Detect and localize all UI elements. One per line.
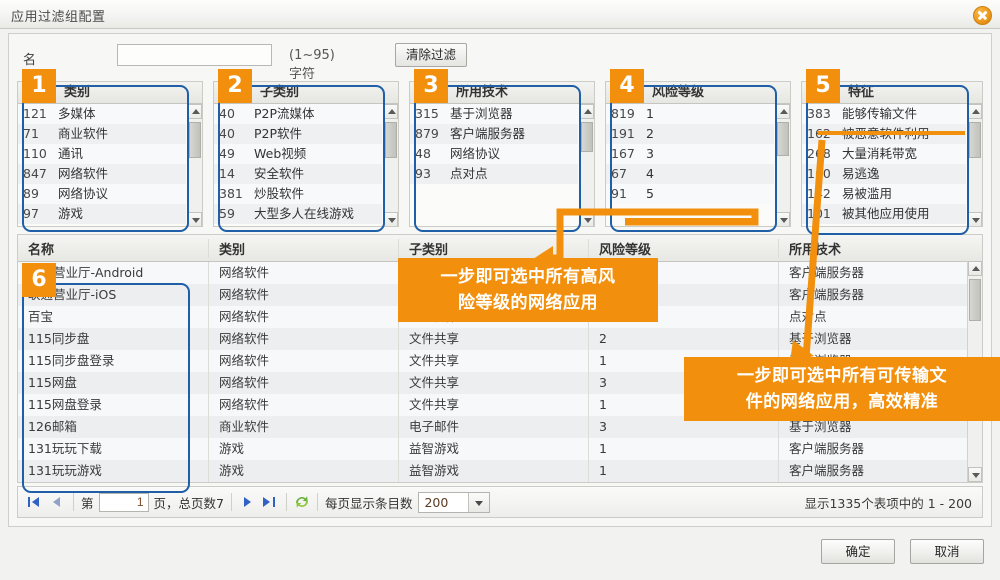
filter-row[interactable]: 97游戏 xyxy=(18,204,186,224)
selection-underline-risk xyxy=(625,218,755,222)
filter-panel-scrollbar[interactable] xyxy=(579,104,594,227)
table-row[interactable]: 115同步盘网络软件文件共享2基于浏览器 xyxy=(18,328,982,350)
filter-row-count: 91 xyxy=(606,184,646,204)
scroll-down-icon[interactable] xyxy=(968,212,982,227)
filter-panel-body: 315基于浏览器 879客户端服务器 48网络协议 93点对点 xyxy=(410,104,594,227)
column-header-name[interactable]: 名称 xyxy=(18,239,208,258)
next-page-icon[interactable] xyxy=(237,491,259,513)
filter-row-count: 67 xyxy=(606,164,646,184)
name-hint: (1~95)字符 xyxy=(289,48,335,82)
filter-row-label: 基于浏览器 xyxy=(450,104,513,124)
cell-subcategory: 文件共享 xyxy=(398,328,588,350)
filter-row[interactable]: 93点对点 xyxy=(410,164,578,184)
cell-name: 115同步盘 xyxy=(18,328,208,350)
filter-row-label: 大量消耗带宽 xyxy=(842,144,917,164)
cell-risk: 1 xyxy=(588,438,778,460)
filter-row-count: 268 xyxy=(802,144,842,164)
per-page-label: 每页显示条目数 xyxy=(325,493,413,512)
scroll-down-icon[interactable] xyxy=(384,212,398,227)
cell-subcategory: 文件共享 xyxy=(398,394,588,416)
filter-row-count: 89 xyxy=(18,184,58,204)
cell-name: 126邮箱 xyxy=(18,416,208,438)
selection-underline-characteristics xyxy=(818,131,965,135)
scroll-up-icon[interactable] xyxy=(968,104,982,119)
cancel-button[interactable]: 取消 xyxy=(910,539,984,564)
filter-row-count: 93 xyxy=(410,164,450,184)
cell-subcategory: 文件共享 xyxy=(398,350,588,372)
filter-row-count: 381 xyxy=(214,184,254,204)
filter-row-label: 易被滥用 xyxy=(842,184,892,204)
cell-technology: 客户端服务器 xyxy=(778,284,967,306)
filter-row-count: 315 xyxy=(410,104,450,124)
filter-row-label: 2 xyxy=(646,124,654,144)
first-page-icon[interactable] xyxy=(24,491,46,513)
filter-row-list: 8191 1912 1673 674 915 xyxy=(606,104,774,204)
cell-category: 商业软件 xyxy=(208,416,398,438)
filter-row-count: 191 xyxy=(606,124,646,144)
per-page-select[interactable]: 200 xyxy=(418,492,490,513)
cell-category: 网络软件 xyxy=(208,394,398,416)
filter-row[interactable]: 40P2P流媒体 xyxy=(214,104,382,124)
callout-risk: 一步即可选中所有高风 险等级的网络应用 xyxy=(398,258,658,322)
filter-row[interactable]: 847网络软件 xyxy=(18,164,186,184)
name-input[interactable] xyxy=(117,44,272,66)
cell-technology: 客户端服务器 xyxy=(778,460,967,482)
filter-row-label: 商业软件 xyxy=(58,124,108,144)
filter-panel-scrollbar[interactable] xyxy=(967,104,982,227)
cell-risk: 2 xyxy=(588,328,778,350)
badge-6: 6 xyxy=(22,263,56,297)
callout-line: 件的网络应用，高效精准 xyxy=(694,389,990,415)
filter-row[interactable]: 110通讯 xyxy=(18,144,186,164)
cell-name: 115网盘登录 xyxy=(18,394,208,416)
filter-row-count: 160 xyxy=(802,164,842,184)
cell-category: 网络软件 xyxy=(208,306,398,328)
column-header-subcategory[interactable]: 子类别 xyxy=(398,239,588,258)
cell-subcategory: 益智游戏 xyxy=(398,460,588,482)
filter-row-label: 炒股软件 xyxy=(254,184,304,204)
filter-row-label: 大型多人在线游戏 xyxy=(254,204,354,224)
filter-row-list: 315基于浏览器 879客户端服务器 48网络协议 93点对点 xyxy=(410,104,578,184)
filter-row-label: 客户端服务器 xyxy=(450,124,525,144)
scroll-up-icon[interactable] xyxy=(188,104,202,119)
filter-row[interactable]: 59大型多人在线游戏 xyxy=(214,204,382,224)
cell-technology: 基于浏览器 xyxy=(778,328,967,350)
filter-row-label: 易逃逸 xyxy=(842,164,880,184)
cell-name: 115同步盘登录 xyxy=(18,350,208,372)
filter-row-count: 71 xyxy=(18,124,58,144)
last-page-icon[interactable] xyxy=(259,491,281,513)
filter-row-list: 121多媒体 71商业软件 110通讯 847网络软件 89网络协议 97游戏 xyxy=(18,104,186,224)
table-row[interactable]: 131玩玩下载游戏益智游戏1客户端服务器 xyxy=(18,438,982,460)
filter-row-count: 49 xyxy=(214,144,254,164)
filter-row-count: 167 xyxy=(606,144,646,164)
filter-row-count: 48 xyxy=(410,144,450,164)
filter-row[interactable]: 1912 xyxy=(606,124,774,144)
scroll-down-icon[interactable] xyxy=(580,212,594,227)
cell-subcategory: 益智游戏 xyxy=(398,438,588,460)
filter-row-count: 97 xyxy=(18,204,58,224)
filter-row-label: 3 xyxy=(646,144,654,164)
window-title: 应用过滤组配置 xyxy=(11,6,106,25)
filter-row-count: 819 xyxy=(606,104,646,124)
filter-row-count: 879 xyxy=(410,124,450,144)
filter-row[interactable]: 268大量消耗带宽 xyxy=(802,144,966,164)
cell-category: 游戏 xyxy=(208,438,398,460)
filter-row-label: 网络软件 xyxy=(58,164,108,184)
scrollbar-thumb[interactable] xyxy=(581,122,593,152)
filter-row-count: 14 xyxy=(214,164,254,184)
filter-row[interactable]: 674 xyxy=(606,164,774,184)
page-suffix-label: 页，总页数7 xyxy=(154,493,224,512)
filter-panel-scrollbar[interactable] xyxy=(383,104,398,227)
filter-row-label: 5 xyxy=(646,184,654,204)
scrollbar-thumb[interactable] xyxy=(969,279,981,321)
cell-category: 网络软件 xyxy=(208,262,398,284)
cell-technology: 点对点 xyxy=(778,306,967,328)
filter-row[interactable]: 49Web视频 xyxy=(214,144,382,164)
filter-row-selected[interactable]: 915 xyxy=(606,184,774,204)
callout-line: 一步即可选中所有高风 xyxy=(408,264,648,290)
cell-name: 131玩玩游戏 xyxy=(18,460,208,482)
badge-5: 5 xyxy=(806,69,840,103)
filter-row[interactable]: 160易逃逸 xyxy=(802,164,966,184)
filter-panel-body: 383能够传输文件 162被恶意软件利用 268大量消耗带宽 160易逃逸 14… xyxy=(802,104,982,227)
cell-category: 网络软件 xyxy=(208,284,398,306)
per-page-value: 200 xyxy=(419,493,468,512)
filter-row-label: 能够传输文件 xyxy=(842,104,917,124)
filter-panel-body: 40P2P流媒体 40P2P软件 49Web视频 14安全软件 381炒股软件 … xyxy=(214,104,398,227)
filter-row-list: 383能够传输文件 162被恶意软件利用 268大量消耗带宽 160易逃逸 14… xyxy=(802,104,966,224)
filter-panel-scrollbar[interactable] xyxy=(187,104,202,227)
callout-line: 一步即可选中所有可传输文 xyxy=(694,363,990,389)
filter-row-count: 121 xyxy=(18,104,58,124)
filter-row-label: 通讯 xyxy=(58,144,83,164)
scrollbar-thumb[interactable] xyxy=(777,122,789,156)
filter-row[interactable]: 142易被滥用 xyxy=(802,184,966,204)
filter-row[interactable]: 89网络协议 xyxy=(18,184,186,204)
scrollbar-thumb[interactable] xyxy=(969,122,981,158)
filter-row-label: P2P流媒体 xyxy=(254,104,315,124)
page-number-input[interactable] xyxy=(99,493,149,512)
filter-row-label: 安全软件 xyxy=(254,164,304,184)
filter-row-label: 点对点 xyxy=(450,164,488,184)
filter-row-label: 网络协议 xyxy=(58,184,108,204)
filter-row-label: 被其他应用使用 xyxy=(842,204,930,224)
cell-subcategory: 电子邮件 xyxy=(398,416,588,438)
filter-row-count: 383 xyxy=(802,104,842,124)
filter-row[interactable]: 1673 xyxy=(606,144,774,164)
filter-row-count: 40 xyxy=(214,124,254,144)
filter-row[interactable]: 14安全软件 xyxy=(214,164,382,184)
cell-category: 网络软件 xyxy=(208,372,398,394)
badge-3: 3 xyxy=(414,69,448,103)
cell-name: 131玩玩下载 xyxy=(18,438,208,460)
filter-row[interactable]: 315基于浏览器 xyxy=(410,104,578,124)
refresh-icon[interactable] xyxy=(292,492,312,512)
scroll-down-icon[interactable] xyxy=(968,467,982,482)
scroll-up-icon[interactable] xyxy=(384,104,398,119)
filter-panel-body: 121多媒体 71商业软件 110通讯 847网络软件 89网络协议 97游戏 xyxy=(18,104,202,227)
filter-row-selected[interactable]: 383能够传输文件 xyxy=(802,104,966,124)
callout-line: 险等级的网络应用 xyxy=(408,290,648,316)
scroll-up-icon[interactable] xyxy=(580,104,594,119)
previous-page-icon[interactable] xyxy=(46,491,68,513)
badge-2: 2 xyxy=(218,69,252,103)
chevron-down-icon[interactable] xyxy=(468,493,489,512)
page-prefix-label: 第 xyxy=(81,493,94,512)
pagination-bar: 第 页，总页数7 每页显示条目数 200 显示1335个表项中的 1 - 200 xyxy=(17,486,983,518)
filter-row-label: Web视频 xyxy=(254,144,306,164)
filter-row-count: 101 xyxy=(802,204,842,224)
cell-category: 游戏 xyxy=(208,460,398,482)
filter-row[interactable]: 101被其他应用使用 xyxy=(802,204,966,224)
column-header-technology[interactable]: 所用技术 xyxy=(778,239,967,258)
scroll-down-icon[interactable] xyxy=(776,212,790,227)
filter-row[interactable]: 48网络协议 xyxy=(410,144,578,164)
cell-risk: 1 xyxy=(588,460,778,482)
callout-file-transfer: 一步即可选中所有可传输文 件的网络应用，高效精准 xyxy=(684,357,1000,421)
scroll-down-icon[interactable] xyxy=(188,212,202,227)
filter-row[interactable]: 381炒股软件 xyxy=(214,184,382,204)
filter-row[interactable]: 879客户端服务器 xyxy=(410,124,578,144)
clear-filter-button[interactable]: 清除过滤 xyxy=(395,43,467,67)
filter-row-count: 142 xyxy=(802,184,842,204)
filter-row-count: 110 xyxy=(18,144,58,164)
cell-category: 网络软件 xyxy=(208,350,398,372)
filter-row-label: 网络协议 xyxy=(450,144,500,164)
scroll-up-icon[interactable] xyxy=(968,261,982,276)
application-filter-group-dialog: 应用过滤组配置 名称: (1~95)字符 清除过滤 类别 121多媒体 71商业… xyxy=(0,0,1000,580)
badge-1: 1 xyxy=(22,69,56,103)
filter-row[interactable]: 121多媒体 xyxy=(18,104,186,124)
cell-subcategory: 文件共享 xyxy=(398,372,588,394)
scrollbar-thumb[interactable] xyxy=(189,122,201,158)
dialog-footer: 确定 取消 xyxy=(0,531,1000,580)
cell-name: 百宝 xyxy=(18,306,208,328)
scrollbar-thumb[interactable] xyxy=(385,122,397,158)
filter-panel-scrollbar[interactable] xyxy=(775,104,790,227)
close-icon[interactable] xyxy=(973,6,992,25)
cell-technology: 客户端服务器 xyxy=(778,262,967,284)
filter-row-label: 游戏 xyxy=(58,204,83,224)
filter-row[interactable]: 40P2P软件 xyxy=(214,124,382,144)
filter-row[interactable]: 8191 xyxy=(606,104,774,124)
ok-button[interactable]: 确定 xyxy=(821,539,895,564)
cell-technology: 客户端服务器 xyxy=(778,438,967,460)
table-row[interactable]: 131玩玩游戏游戏益智游戏1客户端服务器 xyxy=(18,460,982,482)
filter-row-label: 1 xyxy=(646,104,654,124)
filter-panel-body: 8191 1912 1673 674 915 xyxy=(606,104,790,227)
filter-row-count: 59 xyxy=(214,204,254,224)
filter-row-label: P2P软件 xyxy=(254,124,302,144)
record-summary: 显示1335个表项中的 1 - 200 xyxy=(804,493,972,512)
filter-row[interactable]: 71商业软件 xyxy=(18,124,186,144)
filter-row-count: 847 xyxy=(18,164,58,184)
filter-row-count: 40 xyxy=(214,104,254,124)
badge-4: 4 xyxy=(610,69,644,103)
title-bar: 应用过滤组配置 xyxy=(0,0,1000,29)
filter-row-label: 4 xyxy=(646,164,654,184)
cell-category: 网络软件 xyxy=(208,328,398,350)
scroll-up-icon[interactable] xyxy=(776,104,790,119)
filter-row-list: 40P2P流媒体 40P2P软件 49Web视频 14安全软件 381炒股软件 … xyxy=(214,104,382,224)
filter-row-label: 多媒体 xyxy=(58,104,96,124)
cell-name: 115网盘 xyxy=(18,372,208,394)
column-header-category[interactable]: 类别 xyxy=(208,239,398,258)
column-header-risk[interactable]: 风险等级 xyxy=(588,239,778,258)
